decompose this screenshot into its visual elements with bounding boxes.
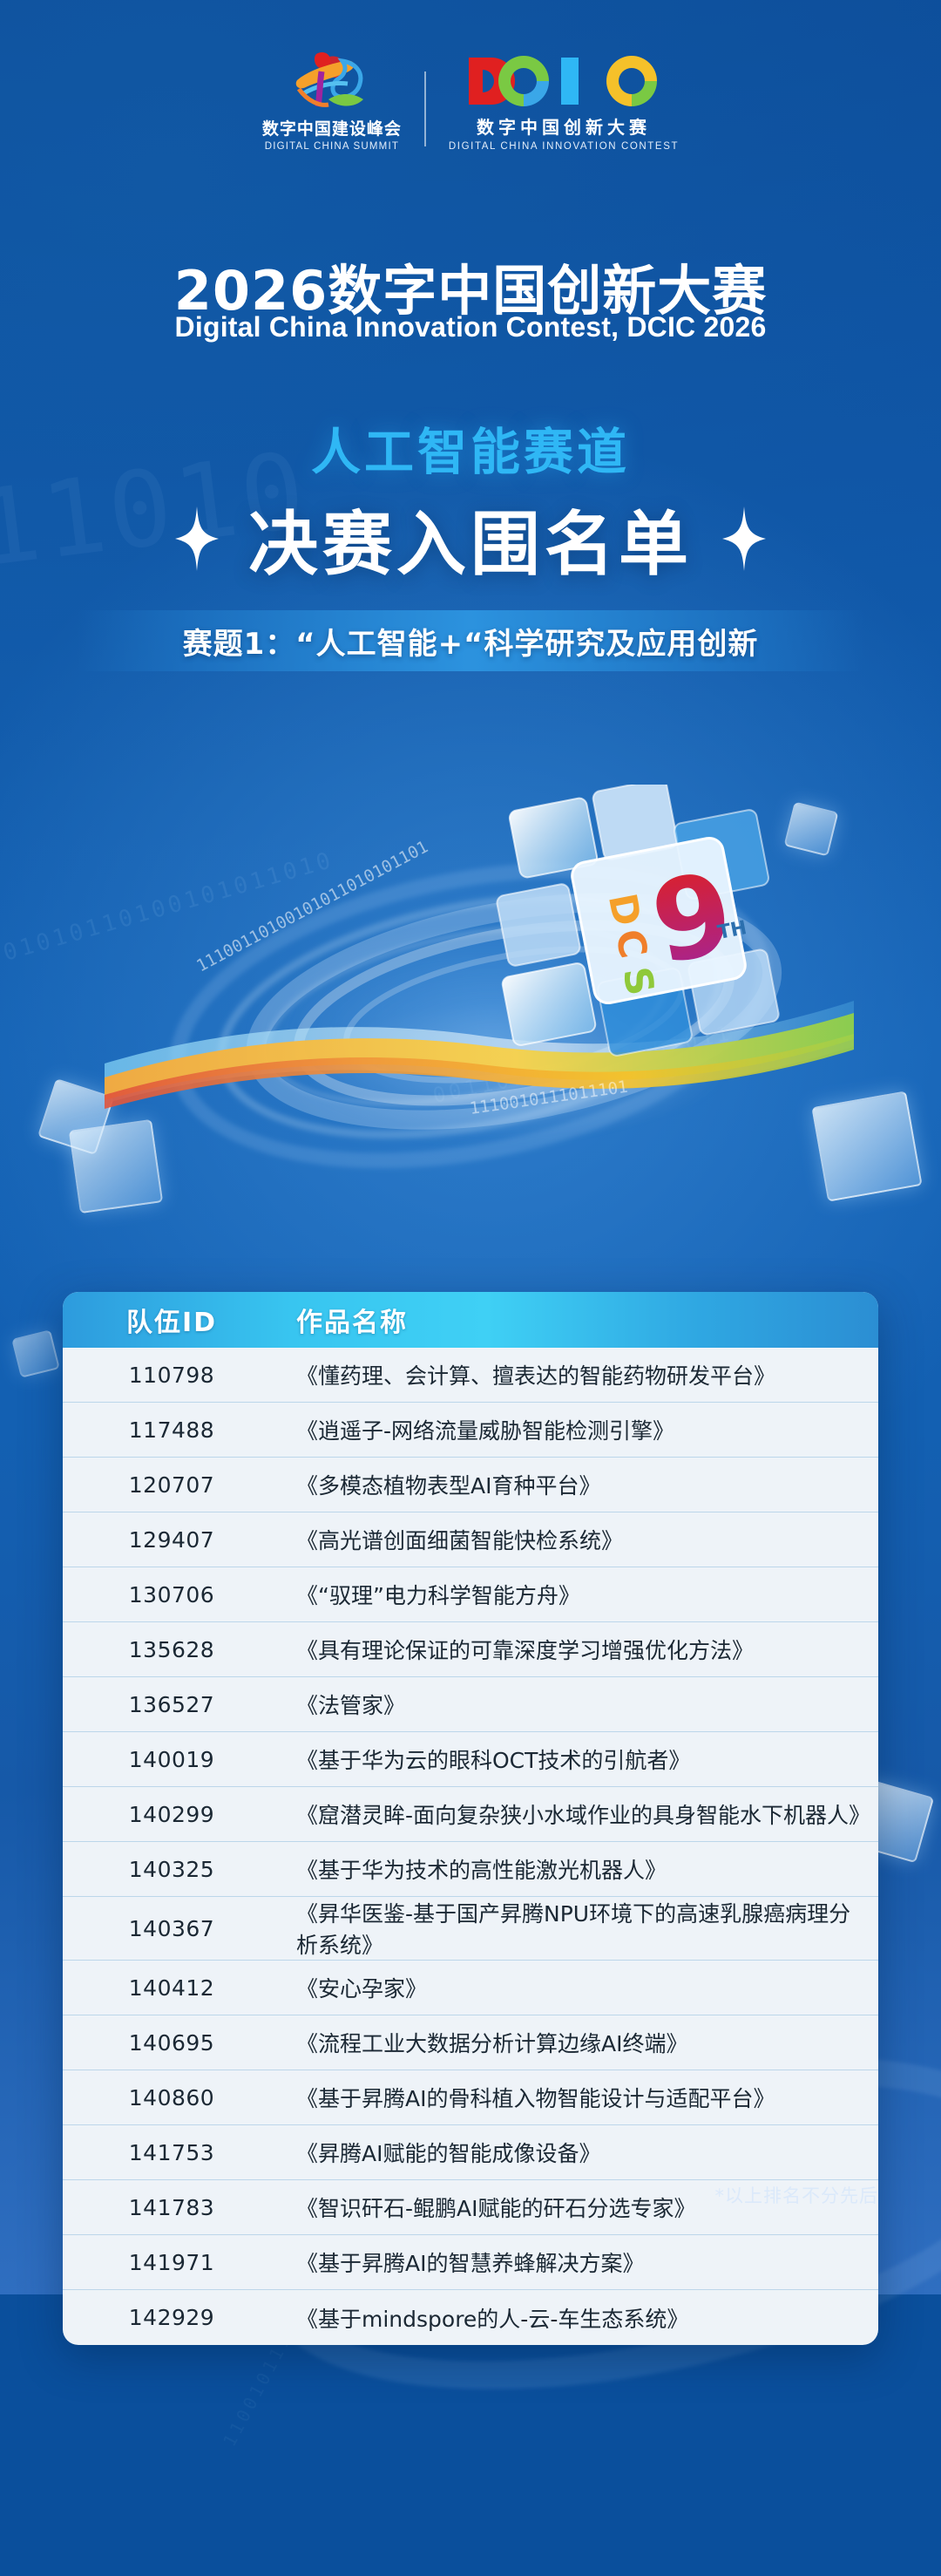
dcic-letters-logo-icon xyxy=(464,52,664,110)
table-row: 141971《基于昇腾AI的智慧养蜂解决方案》 xyxy=(63,2235,878,2290)
headline-row: 决赛入围名单 xyxy=(0,488,941,589)
cell-work-name: 《法管家》 xyxy=(281,1689,878,1720)
logo-row: 数字中国建设峰会 DIGITAL CHINA SUMMIT 数字中国创新大赛 D… xyxy=(0,49,941,152)
cell-team-id: 117488 xyxy=(63,1417,281,1443)
table-row: 110798《懂药理、会计算、擅表达的智能药物研发平台》 xyxy=(63,1348,878,1403)
table-row: 140860《基于昇腾AI的骨科植入物智能设计与适配平台》 xyxy=(63,2070,878,2125)
cell-work-name: 《高光谱创面细菌智能快检系统》 xyxy=(281,1524,878,1555)
cell-work-name: 《多模态植物表型AI育种平台》 xyxy=(281,1469,878,1500)
topic-banner: 赛题1：“人工智能+“科学研究及应用创新 xyxy=(77,610,864,671)
dcs-logo-en: DIGITAL CHINA SUMMIT xyxy=(265,141,399,152)
dcic-logo-cn: 数字中国创新大赛 xyxy=(477,113,651,139)
cell-team-id: 135628 xyxy=(63,1637,281,1662)
cell-team-id: 140325 xyxy=(63,1857,281,1882)
table-row: 136527《法管家》 xyxy=(63,1677,878,1732)
cell-team-id: 136527 xyxy=(63,1692,281,1717)
cell-work-name: 《流程工业大数据分析计算边缘AI终端》 xyxy=(281,2027,878,2058)
cell-work-name: 《基于mindspore的人-云-车生态系统》 xyxy=(281,2302,878,2334)
cell-team-id: 141971 xyxy=(63,2250,281,2275)
table-row: 140299《窟潜灵眸-面向复杂狭小水域作业的具身智能水下机器人》 xyxy=(63,1787,878,1842)
table-row: 140325《基于华为技术的高性能激光机器人》 xyxy=(63,1842,878,1897)
headline-text: 决赛入围名单 xyxy=(248,488,693,589)
table-header-row: 队伍ID 作品名称 xyxy=(63,1292,878,1348)
column-header-work-name: 作品名称 xyxy=(281,1301,878,1339)
table-row: 135628《具有理论保证的可靠深度学习增强优化方法》 xyxy=(63,1622,878,1677)
cell-team-id: 140367 xyxy=(63,1916,281,1941)
page-title-english: Digital China Innovation Contest, DCIC 2… xyxy=(0,311,941,343)
cell-work-name: 《基于华为云的眼科OCT技术的引航者》 xyxy=(281,1743,878,1775)
cell-work-name: 《安心孕家》 xyxy=(281,1972,878,2003)
dcic-logo: 数字中国创新大赛 DIGITAL CHINA INNOVATION CONTES… xyxy=(426,52,679,152)
cell-team-id: 140299 xyxy=(63,1802,281,1827)
cell-work-name: 《“驭理”电力科学智能方舟》 xyxy=(281,1579,878,1610)
cell-team-id: 141783 xyxy=(63,2195,281,2220)
cell-work-name: 《懂药理、会计算、擅表达的智能药物研发平台》 xyxy=(281,1359,878,1390)
dcs-logo: 数字中国建设峰会 DIGITAL CHINA SUMMIT xyxy=(262,49,424,152)
table-row: 140019《基于华为云的眼科OCT技术的引航者》 xyxy=(63,1732,878,1787)
cell-work-name: 《昇华医鉴-基于国产昇腾NPU环境下的高速乳腺癌病理分析系统》 xyxy=(281,1897,878,1960)
cell-team-id: 140019 xyxy=(63,1747,281,1772)
cell-work-name: 《基于昇腾AI的骨科植入物智能设计与适配平台》 xyxy=(281,2082,878,2113)
table-row: 120707《多模态植物表型AI育种平台》 xyxy=(63,1458,878,1512)
cell-team-id: 110798 xyxy=(63,1363,281,1388)
cell-work-name: 《昇腾AI赋能的智能成像设备》 xyxy=(281,2137,878,2168)
cell-team-id: 141753 xyxy=(63,2140,281,2165)
table-row: 140412《安心孕家》 xyxy=(63,1961,878,2015)
sparkle-icon-left xyxy=(175,506,219,571)
table-row: 140367《昇华医鉴-基于国产昇腾NPU环境下的高速乳腺癌病理分析系统》 xyxy=(63,1897,878,1961)
cell-team-id: 142929 xyxy=(63,2305,281,2330)
cell-work-name: 《窟潜灵眸-面向复杂狭小水域作业的具身智能水下机器人》 xyxy=(281,1798,878,1830)
table-row: 129407《高光谱创面细菌智能快检系统》 xyxy=(63,1512,878,1567)
cell-work-name: 《逍遥子-网络流量威胁智能检测引擎》 xyxy=(281,1414,878,1445)
topic-text: 赛题1：“人工智能+“科学研究及应用创新 xyxy=(183,620,759,663)
table-row: 117488《逍遥子-网络流量威胁智能检测引擎》 xyxy=(63,1403,878,1458)
sparkle-icon-right xyxy=(722,506,766,571)
cell-work-name: 《基于昇腾AI的智慧养蜂解决方案》 xyxy=(281,2246,878,2278)
cell-work-name: 《基于华为技术的高性能激光机器人》 xyxy=(281,1853,878,1885)
table-row: 141753《昇腾AI赋能的智能成像设备》 xyxy=(63,2125,878,2180)
cell-team-id: 140412 xyxy=(63,1975,281,2001)
cell-team-id: 120707 xyxy=(63,1472,281,1498)
table-row: 142929《基于mindspore的人-云-车生态系统》 xyxy=(63,2290,878,2345)
track-name: 人工智能赛道 xyxy=(0,412,941,484)
column-header-team-id: 队伍ID xyxy=(63,1301,281,1339)
dcs-artwork: D C S 9 TH 11100110100101011010101101 11… xyxy=(105,785,854,1151)
dcs-logo-cn: 数字中国建设峰会 xyxy=(262,116,402,139)
dcs-calligraphy-logo-icon xyxy=(290,49,374,112)
cell-team-id: 140695 xyxy=(63,2030,281,2056)
table-row: 140695《流程工业大数据分析计算边缘AI终端》 xyxy=(63,2015,878,2070)
cell-team-id: 129407 xyxy=(63,1527,281,1553)
cell-team-id: 130706 xyxy=(63,1582,281,1607)
footnote: *以上排名不分先后 xyxy=(715,2182,879,2208)
cell-team-id: 140860 xyxy=(63,2085,281,2110)
svg-text:11100110100101011010101101: 11100110100101011010101101 xyxy=(193,837,431,975)
cell-work-name: 《具有理论保证的可靠深度学习增强优化方法》 xyxy=(281,1634,878,1665)
dcic-logo-en: DIGITAL CHINA INNOVATION CONTEST xyxy=(449,141,679,152)
table-row: 130706《“驭理”电力科学智能方舟》 xyxy=(63,1567,878,1622)
